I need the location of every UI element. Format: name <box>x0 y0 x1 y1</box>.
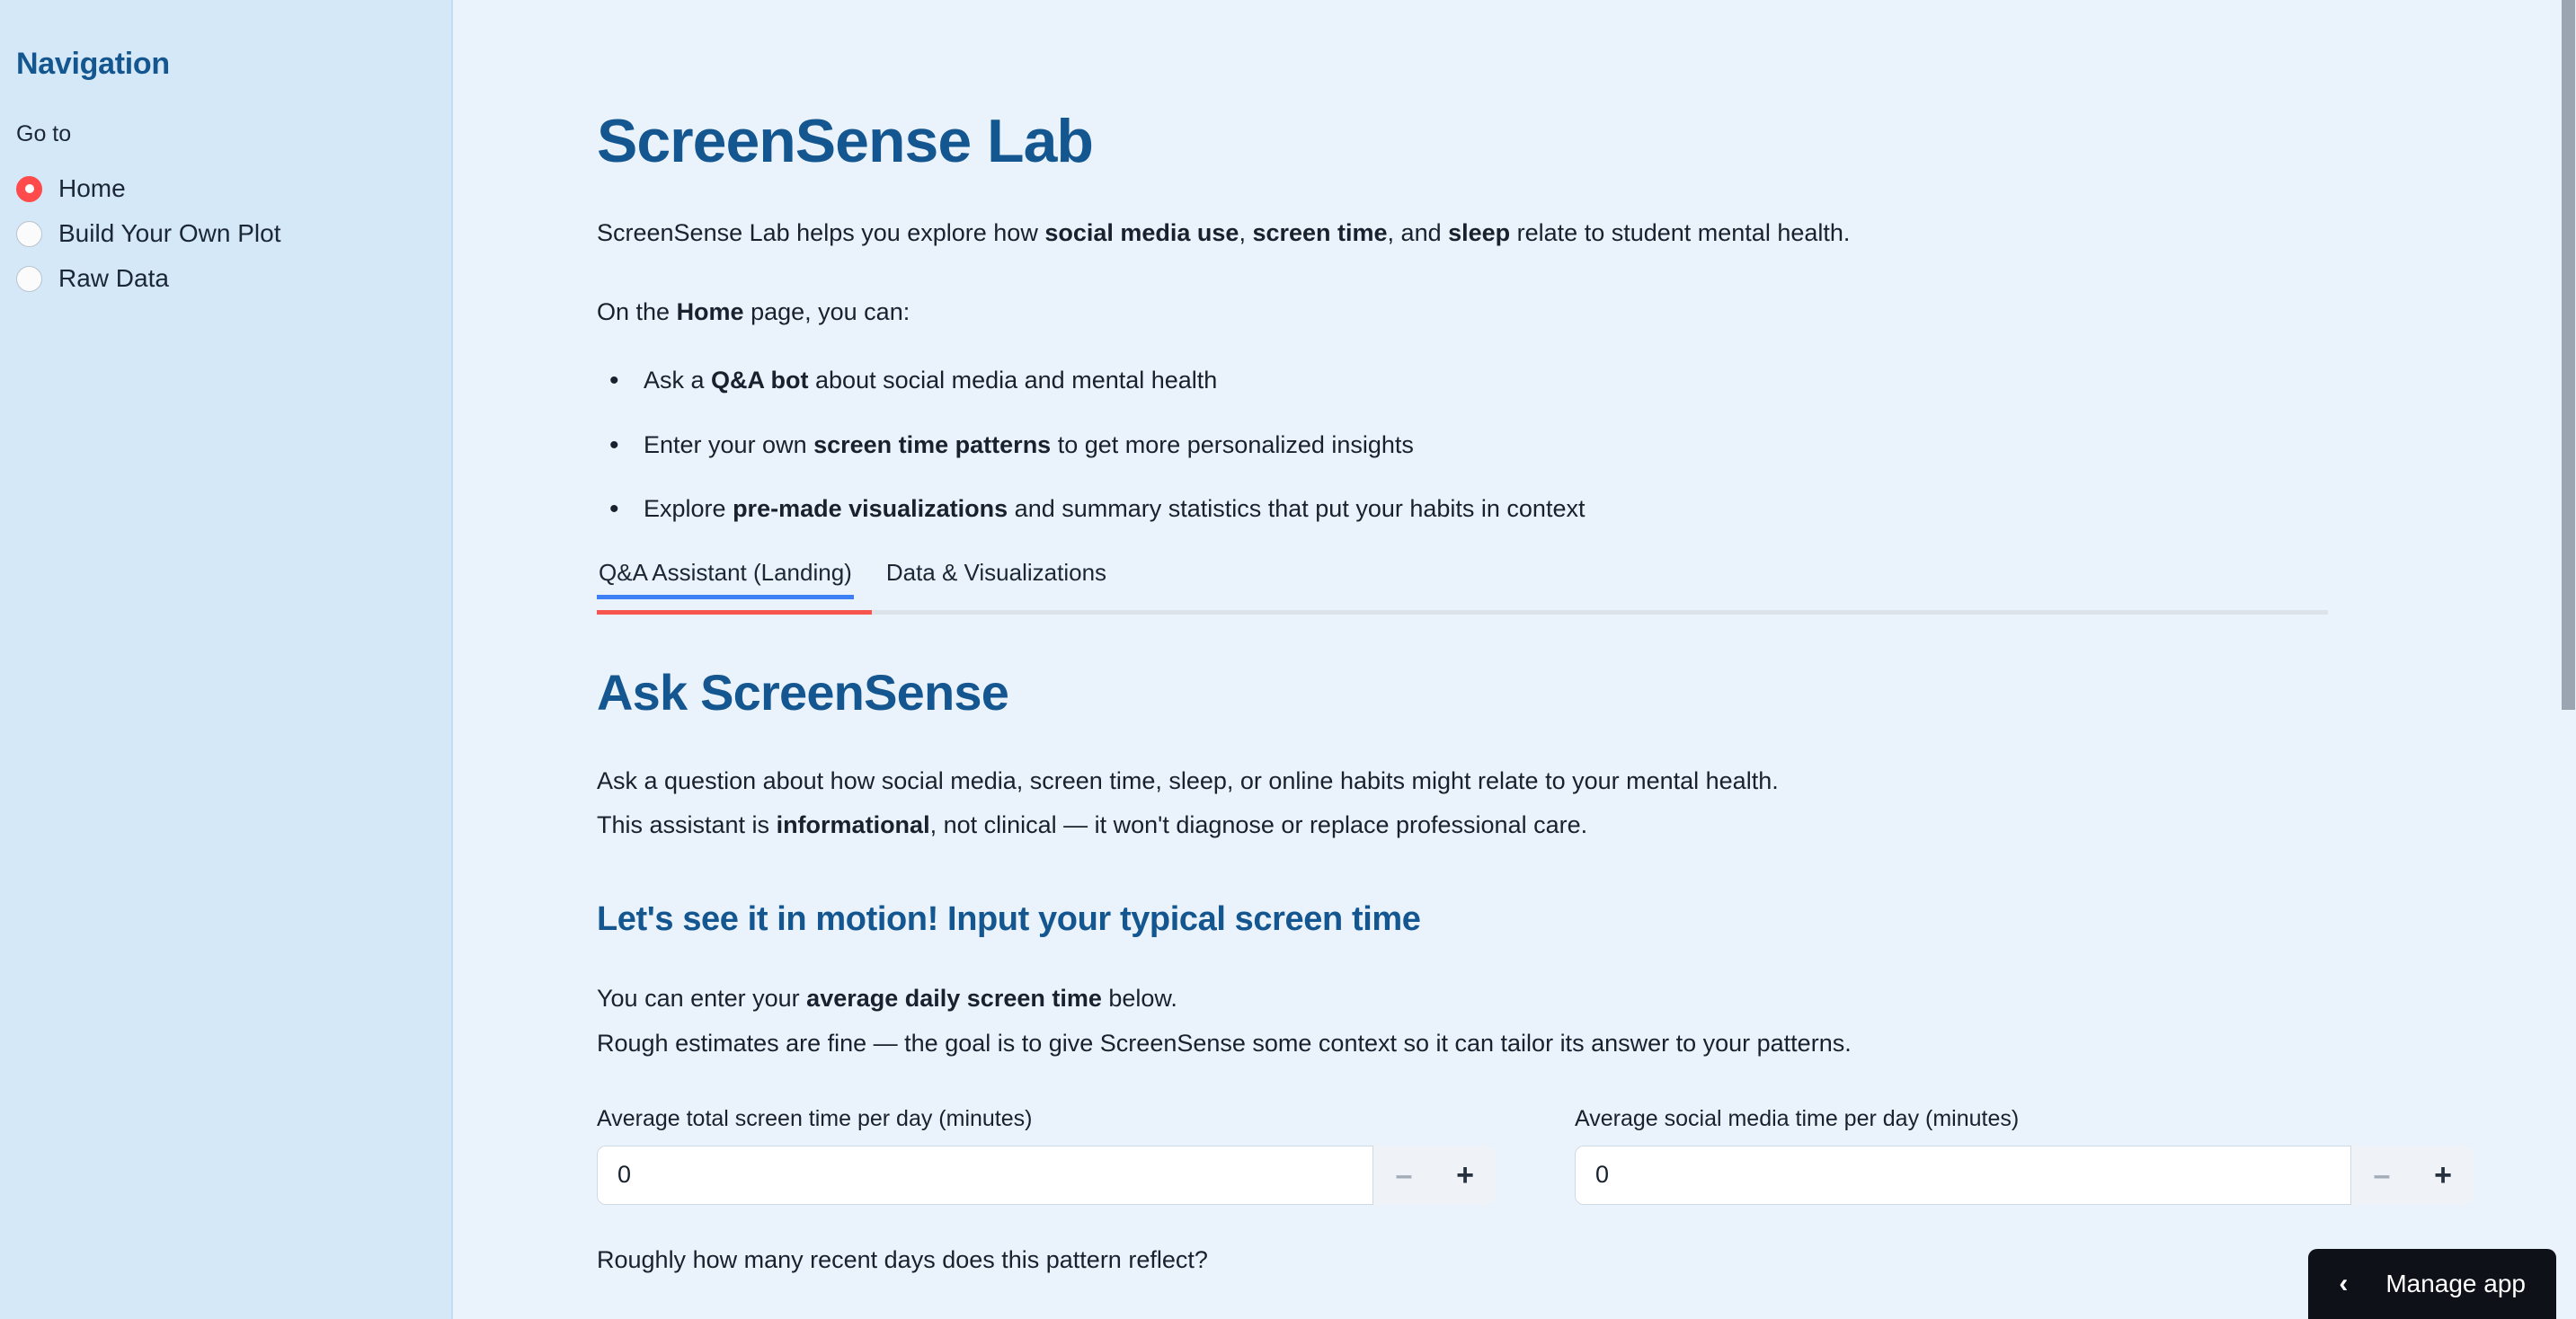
total-screen-time-input[interactable]: 0 <box>597 1146 1373 1205</box>
screen-time-inputs-row: Average total screen time per day (minut… <box>597 1106 2576 1205</box>
increment-button[interactable]: + <box>1445 1155 1485 1195</box>
bullet-text: and summary statistics that put your hab… <box>1008 495 1585 522</box>
tab-label: Q&A Assistant (Landing) <box>599 559 852 586</box>
radio-unselected-icon[interactable] <box>16 266 42 292</box>
bullet-text: Ask a <box>644 367 711 394</box>
intro-paragraph-1: ScreenSense Lab helps you explore how so… <box>597 215 2576 252</box>
intro2-bold-home: Home <box>677 298 744 325</box>
bullet-text: about social media and mental health <box>809 367 1218 394</box>
enter-text: You can enter your <box>597 985 806 1012</box>
intro-paragraph-2: On the Home page, you can: <box>597 294 2576 332</box>
sidebar-item-label: Home <box>58 176 126 201</box>
list-item: Explore pre-made visualizations and summ… <box>597 491 2576 527</box>
chevron-left-icon: ‹ <box>2339 1270 2348 1297</box>
input-label: Average social media time per day (minut… <box>1575 1106 2474 1132</box>
ask2-text: This assistant is <box>597 811 777 838</box>
tab-bar: Q&A Assistant (Landing) Data & Visualiza… <box>597 555 2328 615</box>
sidebar-goto-label: Go to <box>16 121 451 147</box>
stepper-buttons: – + <box>2351 1146 2474 1205</box>
intro-bold-sleep: sleep <box>1448 219 1510 246</box>
intro-text: relate to student mental health. <box>1510 219 1850 246</box>
scrollbar-thumb[interactable] <box>2562 0 2575 710</box>
intro2-text: page, you can: <box>744 298 910 325</box>
quantity-stepper[interactable]: 0 – + <box>597 1146 1496 1205</box>
quantity-stepper[interactable]: 0 – + <box>1575 1146 2474 1205</box>
stepper-buttons: – + <box>1373 1146 1496 1205</box>
manage-app-label: Manage app <box>2385 1270 2526 1298</box>
bullet-text: to get more personalized insights <box>1051 431 1414 458</box>
bullet-text: Enter your own <box>644 431 813 458</box>
page-title: ScreenSense Lab <box>597 110 2576 173</box>
enter-screen-time-line: You can enter your average daily screen … <box>597 980 2576 1018</box>
tab-underline-track <box>597 610 2328 615</box>
intro-text: ScreenSense Lab helps you explore how <box>597 219 1044 246</box>
input-group-total-screen-time: Average total screen time per day (minut… <box>597 1106 1496 1205</box>
tab-data-and-visualizations[interactable]: Data & Visualizations <box>884 555 1108 599</box>
sidebar-item-build-your-own-plot[interactable]: Build Your Own Plot <box>16 211 451 256</box>
sidebar-item-home[interactable]: Home <box>16 166 451 211</box>
sidebar: Navigation Go to Home Build Your Own Plo… <box>0 0 453 1319</box>
input-label: Average total screen time per day (minut… <box>597 1106 1496 1132</box>
sidebar-item-label: Raw Data <box>58 266 169 291</box>
tab-active-indicator <box>597 610 872 615</box>
social-media-time-input[interactable]: 0 <box>1575 1146 2351 1205</box>
sidebar-nav-radio-group[interactable]: Home Build Your Own Plot Raw Data <box>16 166 451 301</box>
sidebar-item-label: Build Your Own Plot <box>58 221 281 246</box>
intro2-text: On the <box>597 298 677 325</box>
content-container: ScreenSense Lab ScreenSense Lab helps yo… <box>453 110 2576 1274</box>
feature-bullet-list: Ask a Q&A bot about social media and men… <box>597 362 2576 527</box>
intro-text: , <box>1239 219 1252 246</box>
enter-bold-average-daily-screen-time: average daily screen time <box>806 985 1102 1012</box>
subsection-title-input-screen-time: Let's see it in motion! Input your typic… <box>597 900 2576 939</box>
intro-bold-screen-time: screen time <box>1252 219 1387 246</box>
bullet-text: Explore <box>644 495 733 522</box>
bullet-bold: pre-made visualizations <box>733 495 1008 522</box>
tab-label: Data & Visualizations <box>886 559 1106 586</box>
bullet-bold: Q&A bot <box>711 367 808 394</box>
intro-text: , and <box>1388 219 1449 246</box>
intro-bold-social-media-use: social media use <box>1044 219 1239 246</box>
enter-text: below. <box>1102 985 1177 1012</box>
tab-list: Q&A Assistant (Landing) Data & Visualiza… <box>597 555 2328 610</box>
rough-estimates-line: Rough estimates are fine — the goal is t… <box>597 1025 2576 1063</box>
increment-button[interactable]: + <box>2423 1155 2463 1195</box>
bullet-bold: screen time patterns <box>813 431 1051 458</box>
decrement-button[interactable]: – <box>2362 1155 2402 1195</box>
ask2-bold-informational: informational <box>777 811 930 838</box>
section-title-ask-screensense: Ask ScreenSense <box>597 663 2576 721</box>
main-content-area: ScreenSense Lab ScreenSense Lab helps yo… <box>453 0 2576 1319</box>
scrollbar[interactable] <box>2561 0 2576 1319</box>
ask-description-line-2: This assistant is informational, not cli… <box>597 807 2576 845</box>
sidebar-title: Navigation <box>16 47 451 82</box>
recent-days-question: Roughly how many recent days does this p… <box>597 1246 2576 1274</box>
input-group-social-media-time: Average social media time per day (minut… <box>1575 1106 2474 1205</box>
ask-description-line-1: Ask a question about how social media, s… <box>597 763 2576 801</box>
decrement-button[interactable]: – <box>1384 1155 1424 1195</box>
manage-app-button[interactable]: ‹ Manage app <box>2308 1249 2556 1319</box>
tab-qa-assistant-landing[interactable]: Q&A Assistant (Landing) <box>597 555 854 599</box>
ask2-text: , not clinical — it won't diagnose or re… <box>930 811 1588 838</box>
radio-selected-icon[interactable] <box>16 176 42 202</box>
radio-unselected-icon[interactable] <box>16 221 42 247</box>
sidebar-item-raw-data[interactable]: Raw Data <box>16 256 451 301</box>
list-item: Enter your own screen time patterns to g… <box>597 427 2576 464</box>
list-item: Ask a Q&A bot about social media and men… <box>597 362 2576 399</box>
